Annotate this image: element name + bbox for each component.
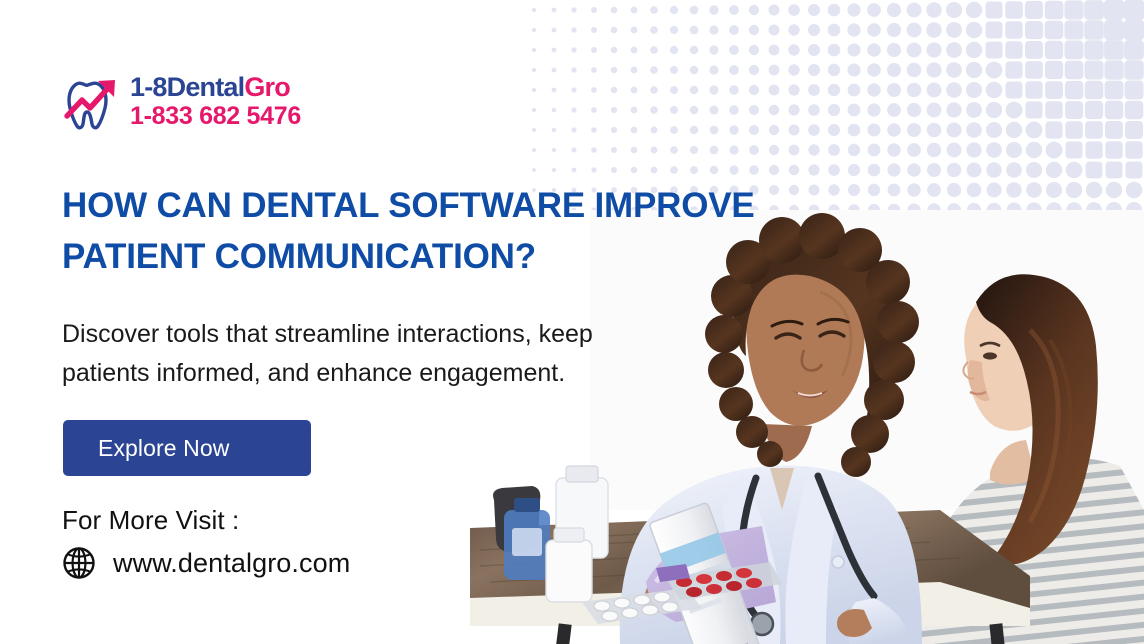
globe-icon (62, 546, 96, 580)
explore-now-button[interactable]: Explore Now (63, 420, 311, 476)
brand-name: 1-8DentalGro (130, 74, 301, 101)
footer-label: For More Visit : (62, 505, 350, 536)
headline-line-2: PATIENT COMMUNICATION? (62, 232, 862, 283)
website-url[interactable]: www.dentalgro.com (113, 548, 350, 579)
footer-contact: For More Visit : www.dentalgro.com (62, 505, 350, 580)
subheadline-line-1: Discover tools that streamline interacti… (62, 315, 702, 354)
brand-phone[interactable]: 1-833 682 5476 (130, 104, 301, 129)
brand-name-accent: Gro (244, 72, 290, 102)
brand-name-primary: 1-8Dental (130, 72, 244, 102)
headline-line-1: HOW CAN DENTAL SOFTWARE IMPROVE (62, 181, 862, 232)
tooth-growth-arrow-icon (62, 72, 122, 130)
subheadline: Discover tools that streamline interacti… (62, 315, 702, 393)
brand-logo[interactable]: 1-8DentalGro 1-833 682 5476 (62, 72, 301, 130)
website-link[interactable]: www.dentalgro.com (62, 546, 350, 580)
page-title: HOW CAN DENTAL SOFTWARE IMPROVE PATIENT … (62, 181, 862, 283)
marketing-banner: 1-8DentalGro 1-833 682 5476 HOW CAN DENT… (0, 0, 1144, 644)
subheadline-line-2: patients informed, and enhance engagemen… (62, 354, 702, 393)
